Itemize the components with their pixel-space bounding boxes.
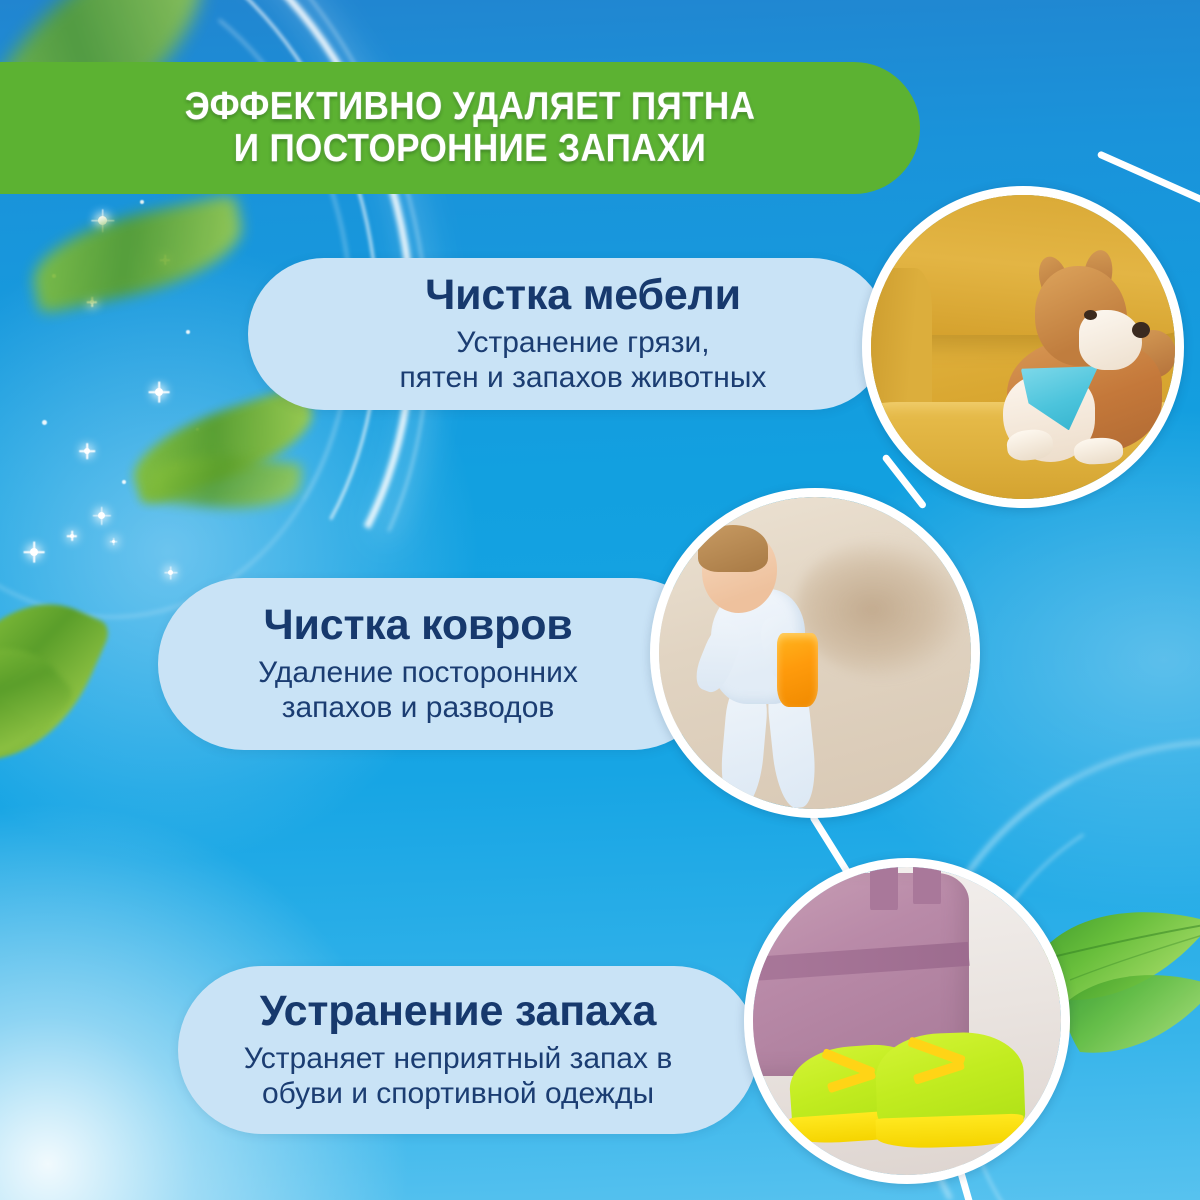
leaf-icon (24, 194, 251, 315)
gym-bag-handle (870, 858, 898, 910)
sparkle-dot (140, 200, 144, 204)
gym-bag-and-sneakers-photo (753, 867, 1061, 1175)
baby-leg (718, 686, 770, 810)
feature-subtitle: Устранение грязи, пятен и запахов животн… (400, 325, 767, 396)
feature-title: Чистка ковров (263, 603, 572, 648)
photo-circle-odor (744, 858, 1070, 1184)
sneaker-sole (876, 1114, 1025, 1150)
feature-subtitle: Удаление посторонних запахов и разводов (258, 655, 578, 726)
sparkle-star-icon (112, 540, 115, 543)
feature-subtitle: Устраняет неприятный запах в обуви и спо… (244, 1041, 673, 1112)
sparkle-star-icon (84, 448, 90, 454)
baby-hair (698, 525, 768, 572)
feature-title: Устранение запаха (260, 989, 656, 1034)
headline-banner: ЭФФЕКТИВНО УДАЛЯЕТ ПЯТНА И ПОСТОРОННИЕ З… (0, 62, 920, 194)
sparkle-star-icon (70, 534, 74, 538)
sparkle-star-icon (155, 388, 163, 396)
sparkle-dot (186, 330, 190, 334)
dog-paw (1073, 437, 1124, 466)
dog-eye (1084, 310, 1096, 320)
orange-cup (777, 633, 818, 707)
baby-on-carpet-photo (659, 497, 971, 809)
sparkle-dot (122, 480, 126, 484)
feature-card-odor-removal: Устранение запаха Устраняет неприятный з… (178, 966, 758, 1134)
sparkle-dot (42, 420, 47, 425)
dog-on-sofa-photo (871, 195, 1175, 499)
gym-bag-handle (913, 858, 941, 904)
sparkle-star-icon (168, 570, 173, 575)
dog-illustration (993, 262, 1169, 463)
leaf-icon (1060, 960, 1200, 1080)
feature-card-furniture-cleaning: Чистка мебели Устранение грязи, пятен и … (248, 258, 888, 410)
infographic-canvas: ЭФФЕКТИВНО УДАЛЯЕТ ПЯТНА И ПОСТОРОННИЕ З… (0, 0, 1200, 1200)
feature-title: Чистка мебели (425, 273, 741, 318)
baby-illustration (678, 528, 884, 803)
photo-circle-furniture (862, 186, 1184, 508)
photo-circle-carpet (650, 488, 980, 818)
dog-nose (1132, 322, 1150, 338)
sparkle-star-icon (30, 548, 38, 556)
feature-card-carpet-cleaning: Чистка ковров Удаление посторонних запах… (158, 578, 718, 750)
sparkle-star-icon (98, 512, 105, 519)
headline-text: ЭФФЕКТИВНО УДАЛЯЕТ ПЯТНА И ПОСТОРОННИЕ З… (185, 86, 756, 170)
gym-bag-stripe (744, 942, 969, 983)
